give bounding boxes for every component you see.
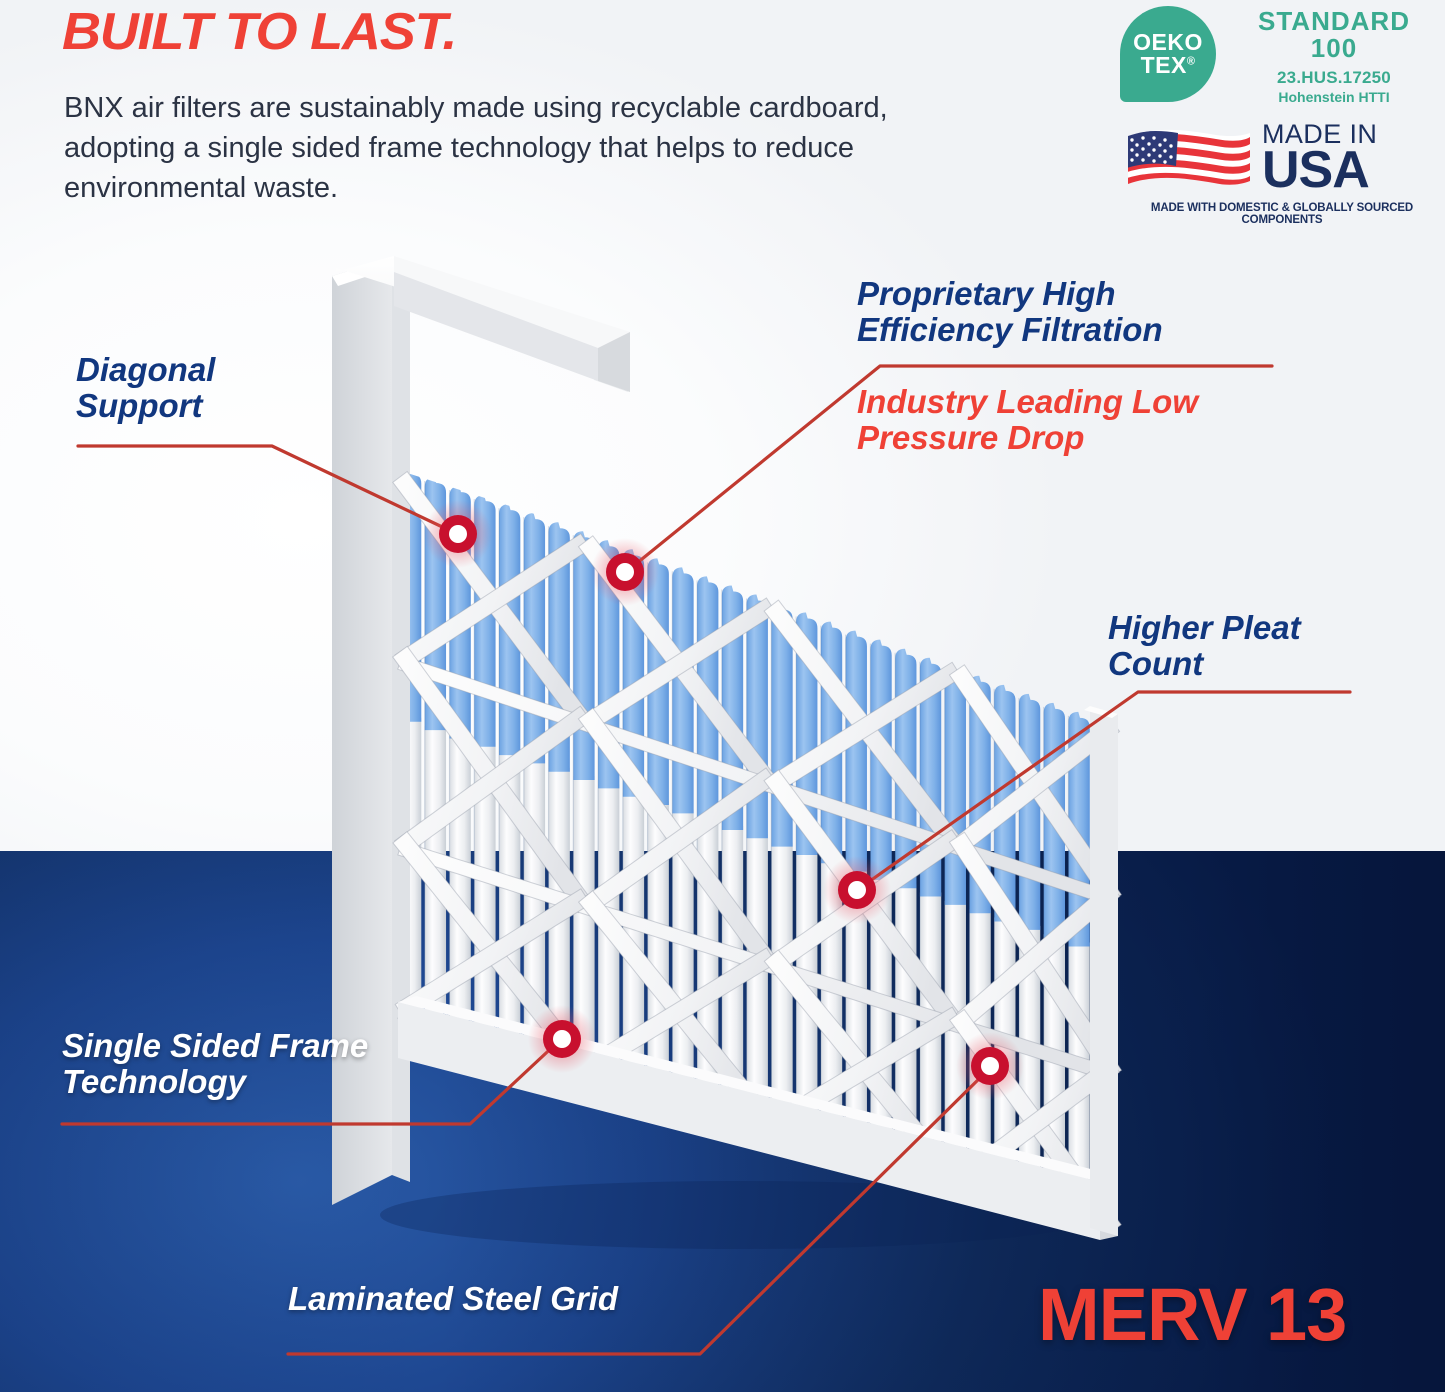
callout-proprietary-filtration: Proprietary High Efficiency Filtration — [857, 276, 1163, 347]
callout-low-pressure-drop: Industry Leading Low Pressure Drop — [857, 384, 1198, 455]
callout-laminated-steel-grid: Laminated Steel Grid — [288, 1281, 618, 1317]
usa-flag-icon — [1124, 126, 1250, 198]
page-title: BUILT TO LAST. — [62, 6, 456, 58]
oeko-tex-standard: STANDARD 100 — [1234, 8, 1434, 62]
intro-paragraph: BNX air filters are sustainably made usi… — [64, 88, 894, 208]
callout-single-sided-frame: Single Sided Frame Technology — [62, 1028, 368, 1099]
callout-diagonal-support: Diagonal Support — [76, 352, 215, 423]
oeko-tex-details: STANDARD 100 23.HUS.17250 Hohenstein HTT… — [1234, 8, 1434, 105]
made-in-usa-badge: MADE IN USA MADE WITH DOMESTIC & GLOBALL… — [1124, 122, 1440, 218]
callout-higher-pleat-count: Higher Pleat Count — [1108, 610, 1301, 681]
made-in-usa-text: MADE IN USA — [1262, 122, 1377, 195]
oeko-tex-badge: OEKO TEX® STANDARD 100 23.HUS.17250 Hohe… — [1120, 6, 1440, 106]
oeko-tex-droplet-icon: OEKO TEX® — [1120, 6, 1216, 102]
usa-disclaimer: MADE WITH DOMESTIC & GLOBALLY SOURCED CO… — [1124, 202, 1440, 226]
merv-rating-label: MERV 13 — [1038, 1272, 1346, 1357]
oeko-tex-mark-line2: TEX® — [1141, 54, 1196, 77]
usa-label: USA — [1262, 147, 1377, 195]
infographic-canvas: BUILT TO LAST. BNX air filters are susta… — [0, 0, 1445, 1392]
oeko-tex-certificate-number: 23.HUS.17250 — [1234, 68, 1434, 88]
oeko-tex-mark-line1: OEKO — [1133, 31, 1203, 54]
oeko-tex-institute: Hohenstein HTTI — [1234, 89, 1434, 105]
